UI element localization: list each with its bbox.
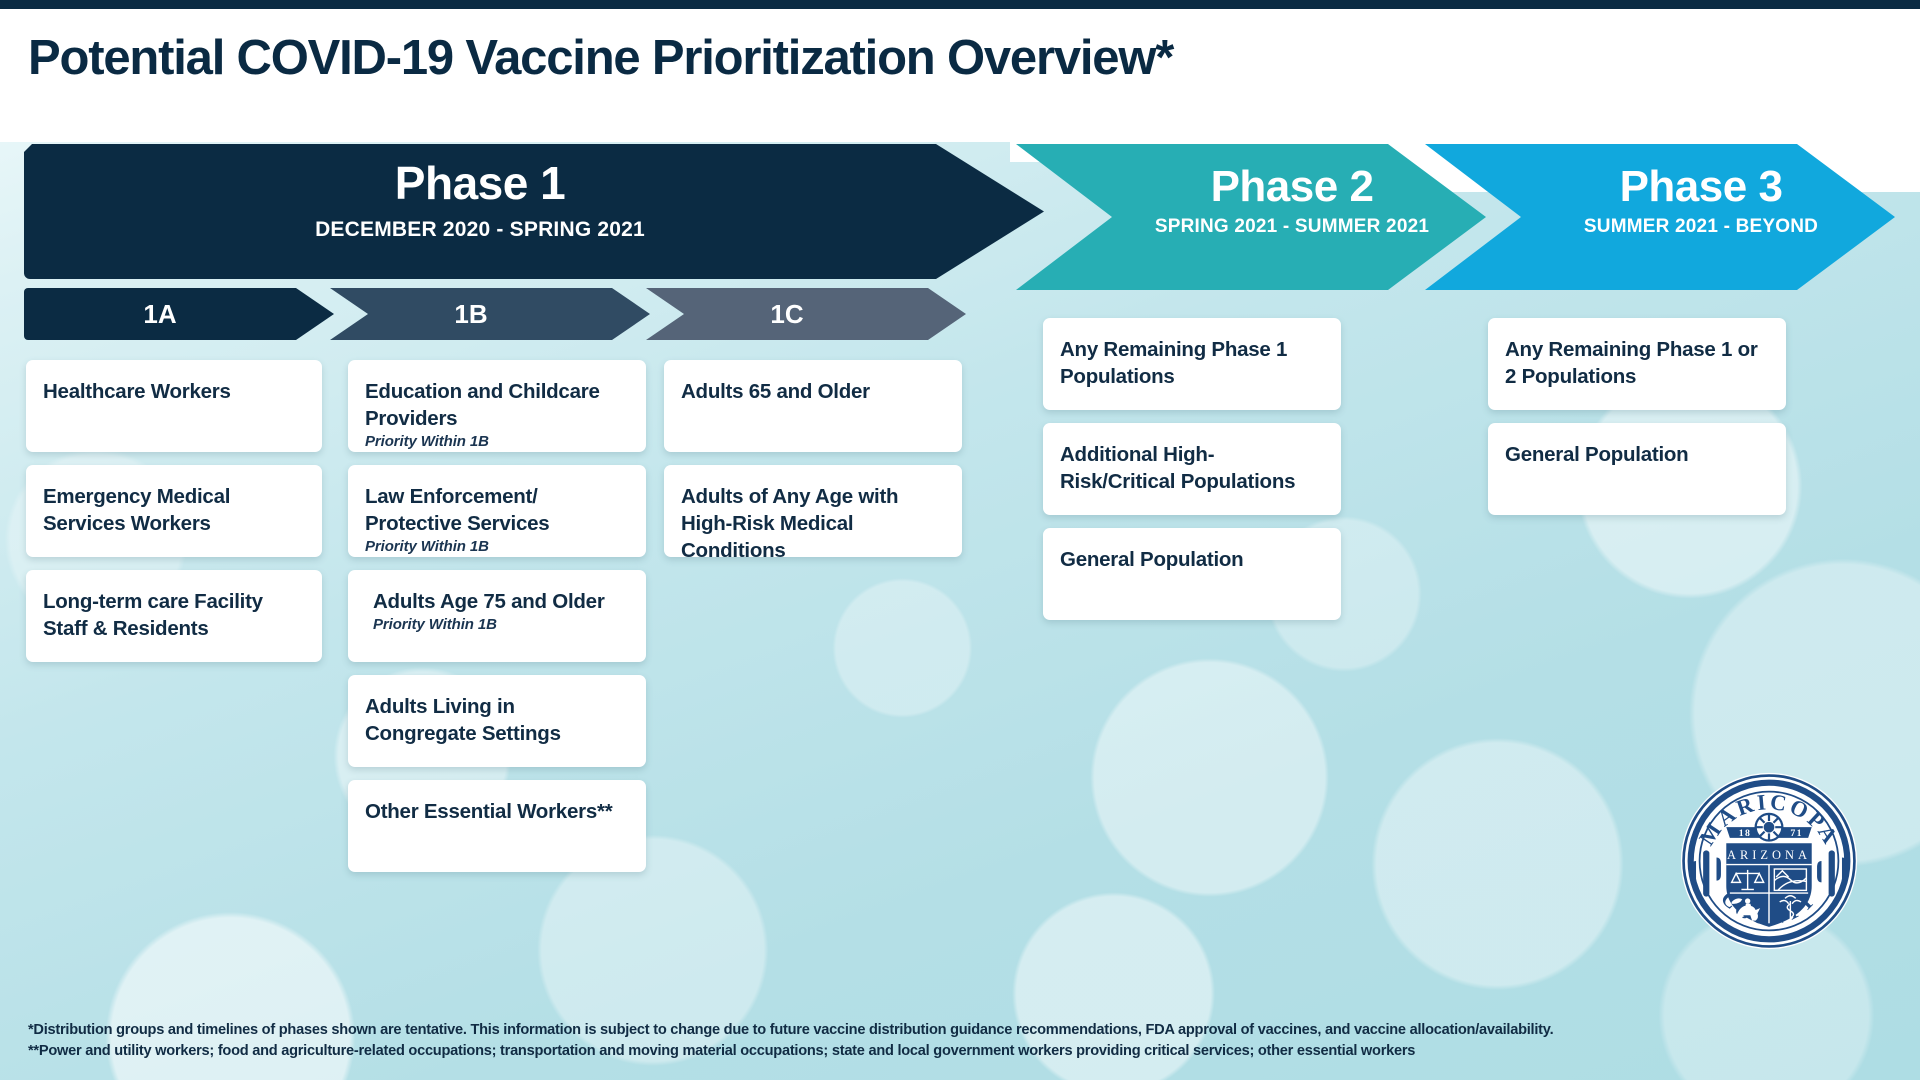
phase-1-dates: DECEMBER 2020 - SPRING 2021 xyxy=(24,218,936,242)
population-card: Healthcare Workers xyxy=(26,360,322,452)
column-phase-1a: Healthcare WorkersEmergency Medical Serv… xyxy=(26,360,322,662)
phase-2-title: Phase 2 xyxy=(1106,162,1478,212)
population-card-title: Adults of Any Age with High-Risk Medical… xyxy=(681,483,945,564)
maricopa-county-seal-icon: MARICOPA COUNTY 18 71 ARIZONA xyxy=(1680,772,1858,950)
footnotes: *Distribution groups and timelines of ph… xyxy=(28,1020,1553,1063)
population-card: Any Remaining Phase 1 or 2 Populations xyxy=(1488,318,1786,410)
population-card: General Population xyxy=(1488,423,1786,515)
population-card-note: Priority Within 1B xyxy=(373,616,629,633)
footnote-line-1: *Distribution groups and timelines of ph… xyxy=(28,1020,1553,1041)
population-card-title: Adults Living in Congregate Settings xyxy=(365,693,629,747)
population-card: Adults of Any Age with High-Risk Medical… xyxy=(664,465,962,557)
population-card: Any Remaining Phase 1 Populations xyxy=(1043,318,1341,410)
phase-3-dates: SUMMER 2021 - BEYOND xyxy=(1515,216,1887,238)
population-card: General Population xyxy=(1043,528,1341,620)
population-card-title: Additional High-Risk/Critical Population… xyxy=(1060,441,1324,495)
population-card-title: Healthcare Workers xyxy=(43,378,305,405)
phase-1-title: Phase 1 xyxy=(24,156,936,210)
population-card: Long-term care Facility Staff & Resident… xyxy=(26,570,322,662)
footnote-line-2: **Power and utility workers; food and ag… xyxy=(28,1041,1553,1062)
population-card-title: Adults Age 75 and Older xyxy=(373,588,629,615)
population-card-title: Law Enforcement/ Protective Services xyxy=(365,483,629,537)
population-card: Law Enforcement/ Protective ServicesPrio… xyxy=(348,465,646,557)
population-card-title: Emergency Medical Services Workers xyxy=(43,483,305,537)
subphase-1a-label: 1A xyxy=(24,288,334,340)
phase-1-banner: Phase 1 DECEMBER 2020 - SPRING 2021 xyxy=(24,144,1044,279)
population-card-title: Any Remaining Phase 1 Populations xyxy=(1060,336,1324,390)
phase-3-title: Phase 3 xyxy=(1515,162,1887,212)
population-card: Adults Age 75 and OlderPriority Within 1… xyxy=(348,570,646,662)
population-card-title: Other Essential Workers** xyxy=(365,798,629,825)
svg-text:ARIZONA: ARIZONA xyxy=(1727,848,1811,862)
column-phase-1b: Education and Childcare ProvidersPriorit… xyxy=(348,360,646,872)
svg-text:18: 18 xyxy=(1739,828,1751,839)
population-card-title: Long-term care Facility Staff & Resident… xyxy=(43,588,305,642)
column-phase-3: Any Remaining Phase 1 or 2 PopulationsGe… xyxy=(1488,318,1786,515)
population-card-title: Any Remaining Phase 1 or 2 Populations xyxy=(1505,336,1769,390)
population-card-note: Priority Within 1B xyxy=(365,538,629,555)
population-card: Additional High-Risk/Critical Population… xyxy=(1043,423,1341,515)
population-card: Education and Childcare ProvidersPriorit… xyxy=(348,360,646,452)
subphase-1b-label: 1B xyxy=(330,288,650,340)
population-card: Adults Living in Congregate Settings xyxy=(348,675,646,767)
population-card: Emergency Medical Services Workers xyxy=(26,465,322,557)
svg-text:71: 71 xyxy=(1790,828,1802,839)
population-card: Adults 65 and Older xyxy=(664,360,962,452)
population-card: Other Essential Workers** xyxy=(348,780,646,872)
phase-2-dates: SPRING 2021 - SUMMER 2021 xyxy=(1106,216,1478,238)
page-title: Potential COVID-19 Vaccine Prioritizatio… xyxy=(28,30,1173,86)
top-accent-rule xyxy=(0,0,1920,9)
population-card-title: General Population xyxy=(1505,441,1769,468)
population-card-title: Education and Childcare Providers xyxy=(365,378,629,432)
column-phase-1c: Adults 65 and OlderAdults of Any Age wit… xyxy=(664,360,962,557)
population-card-note: Priority Within 1B xyxy=(365,433,629,450)
population-card-title: Adults 65 and Older xyxy=(681,378,945,405)
column-phase-2: Any Remaining Phase 1 PopulationsAdditio… xyxy=(1043,318,1341,620)
population-card-title: General Population xyxy=(1060,546,1324,573)
subphase-1c-label: 1C xyxy=(646,288,966,340)
